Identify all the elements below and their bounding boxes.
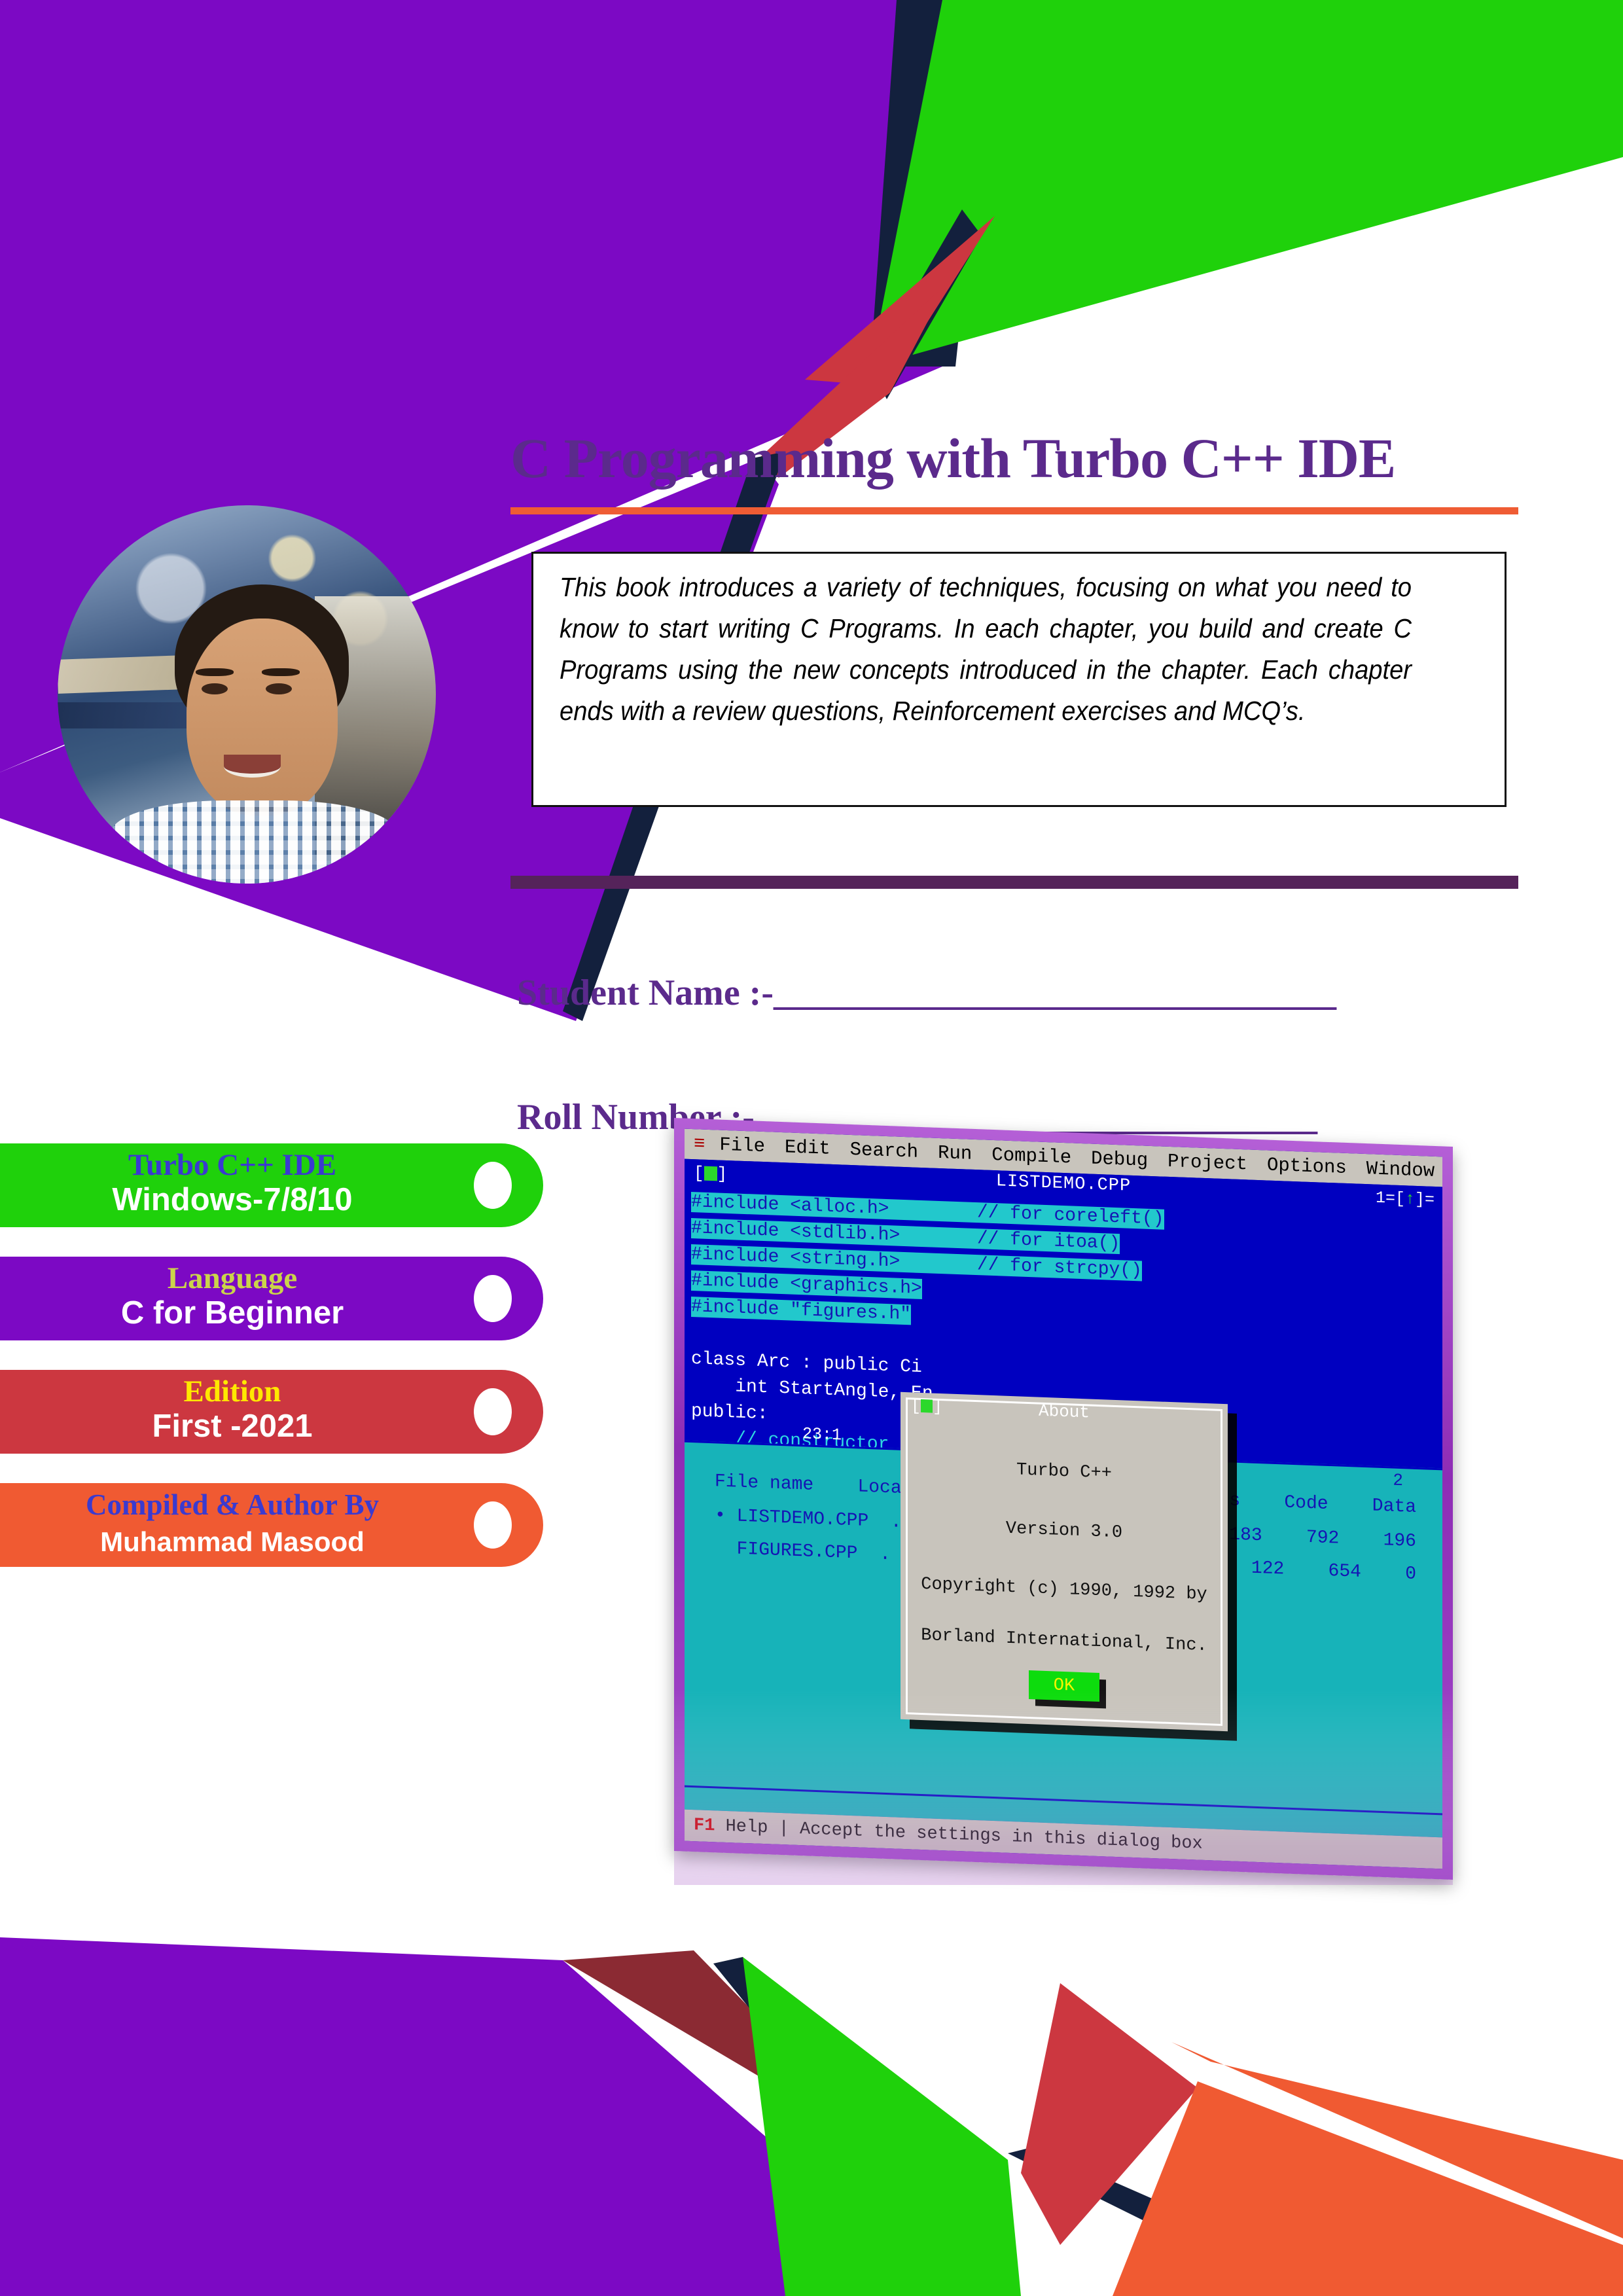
- shape-bottom-navy-2: [1008, 2147, 1374, 2296]
- menu-item-edit[interactable]: Edit: [785, 1136, 850, 1160]
- menu-item-run[interactable]: Run: [938, 1142, 991, 1166]
- shape-bottom-red: [1021, 1983, 1198, 2245]
- title-underline-rule: [510, 507, 1518, 514]
- photo-eyebrow-right: [262, 668, 300, 677]
- badge-ide-subtitle: Windows-7/8/10: [0, 1181, 543, 1218]
- badge-language-title: Language: [0, 1261, 543, 1295]
- menu-item-file[interactable]: File: [719, 1134, 785, 1158]
- badge-edition-subtitle: First -2021: [0, 1408, 543, 1444]
- photo-face: [187, 619, 338, 816]
- badge-language: Language C for Beginner: [0, 1257, 543, 1340]
- code-line: #include <graphics.h>: [691, 1270, 922, 1299]
- shape-top-navy-2: [870, 209, 982, 399]
- shape-top-red: [805, 216, 995, 386]
- shape-bottom-purple: [0, 1937, 949, 2296]
- badge-hole-icon: [474, 1501, 512, 1549]
- table-row-values: 122 654 0: [1251, 1558, 1416, 1585]
- badge-edition-title: Edition: [0, 1374, 543, 1408]
- table-row[interactable]: FIGURES.CPP .: [715, 1538, 891, 1565]
- shape-bottom-orange-2: [1171, 2042, 1623, 2238]
- section-divider-rule: [510, 876, 1518, 889]
- menu-item-window[interactable]: Window: [1366, 1158, 1442, 1183]
- shape-bottom-green: [743, 1957, 1021, 2296]
- badge-author: Compiled & Author By Muhammad Masood: [0, 1483, 543, 1567]
- page-title: C Programming with Turbo C++ IDE: [510, 425, 1531, 491]
- ide-cursor-position: 23:1: [802, 1424, 842, 1444]
- menu-item-compile[interactable]: Compile: [991, 1144, 1091, 1170]
- system-menu-icon[interactable]: ≡: [685, 1133, 719, 1156]
- ide-project-columns: s Code Data: [1229, 1490, 1416, 1518]
- menu-item-options[interactable]: Options: [1267, 1155, 1366, 1180]
- about-dialog[interactable]: [] About Turbo C++ Version 3.0 Copyright…: [901, 1392, 1228, 1732]
- turbo-cpp-ide-screenshot: ≡FileEditSearchRunCompileDebugProjectOpt…: [674, 1147, 1453, 1880]
- photo-eye-right: [266, 683, 292, 694]
- menu-item-project[interactable]: Project: [1168, 1151, 1267, 1176]
- badge-author-name: Muhammad Masood: [0, 1524, 543, 1560]
- description-box: This book introduces a variety of techni…: [531, 552, 1507, 807]
- badge-author-title: Compiled & Author By: [0, 1488, 543, 1522]
- photo-eye-left: [202, 683, 228, 694]
- badge-hole-icon: [474, 1162, 512, 1209]
- shape-bottom-maroon: [563, 1950, 955, 2199]
- badge-hole-icon: [474, 1388, 512, 1435]
- photo-eyebrow-left: [196, 668, 234, 677]
- shape-bottom-orange: [1113, 2081, 1623, 2296]
- badge-hole-icon: [474, 1275, 512, 1322]
- ok-button[interactable]: OK: [1029, 1670, 1099, 1702]
- table-row-values: 183 792 196: [1229, 1524, 1416, 1552]
- shape-top-navy: [870, 0, 995, 367]
- shape-top-green: [870, 0, 1623, 367]
- menu-item-search[interactable]: Search: [850, 1139, 938, 1164]
- ide-project-header: File name Locat: [715, 1471, 912, 1499]
- status-key-f1[interactable]: F1: [694, 1816, 715, 1836]
- ide-monitor-frame: ≡FileEditSearchRunCompileDebugProjectOpt…: [674, 1118, 1453, 1880]
- ide-screen: ≡FileEditSearchRunCompileDebugProjectOpt…: [685, 1129, 1442, 1869]
- table-row[interactable]: • LISTDEMO.CPP .: [715, 1505, 902, 1533]
- student-name-label: Student Name :-: [517, 973, 774, 1013]
- ide-project-count: 2: [1393, 1471, 1403, 1491]
- badge-edition: Edition First -2021: [0, 1370, 543, 1454]
- badge-language-subtitle: C for Beginner: [0, 1295, 543, 1331]
- code-line: #include "figures.h": [691, 1297, 911, 1325]
- author-photo: [58, 505, 436, 884]
- badge-turbo-cpp-ide: Turbo C++ IDE Windows-7/8/10: [0, 1143, 543, 1227]
- photo-shirt: [111, 800, 398, 884]
- code-line: public:: [691, 1401, 768, 1424]
- menu-item-debug[interactable]: Debug: [1091, 1148, 1168, 1172]
- badge-ide-title: Turbo C++ IDE: [0, 1148, 543, 1182]
- code-line: class Arc : public Ci: [691, 1349, 922, 1378]
- description-text: This book introduces a variety of techni…: [560, 567, 1412, 732]
- code-line: int StartAngle, En: [691, 1375, 933, 1405]
- student-name-blank[interactable]: _________________________________: [774, 973, 1335, 1013]
- shape-bottom-navy: [713, 1957, 1021, 2296]
- ide-window-number[interactable]: 1=[↑]=: [1376, 1189, 1435, 1210]
- student-name-field[interactable]: Student Name :-_________________________…: [517, 972, 1335, 1014]
